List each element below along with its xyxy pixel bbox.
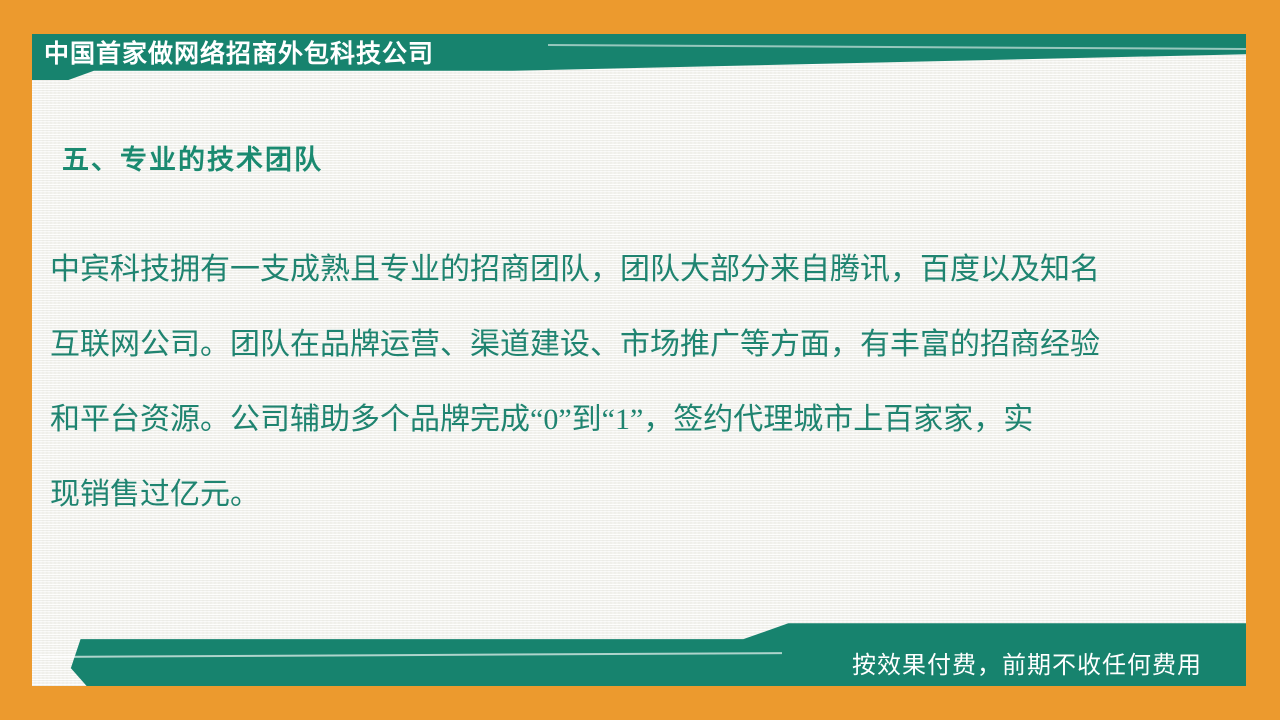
- body-line: 中宾科技拥有一支成熟且专业的招商团队，团队大部分来自腾讯，百度以及知名: [50, 232, 1180, 307]
- footer-slogan: 按效果付费，前期不收任何费用: [852, 645, 1202, 680]
- body-line: 互联网公司。团队在品牌运营、渠道建设、市场推广等方面，有丰富的招商经验: [50, 307, 1180, 382]
- body-line: 和平台资源。公司辅助多个品牌完成“0”到“1”，签约代理城市上百家家，实: [50, 382, 1180, 457]
- section-heading: 五、专业的技术团队: [62, 138, 323, 177]
- header-title: 中国首家做网络招商外包科技公司: [44, 36, 434, 72]
- body-paragraph: 中宾科技拥有一支成熟且专业的招商团队，团队大部分来自腾讯，百度以及知名 互联网公…: [50, 232, 1180, 532]
- body-line: 现销售过亿元。: [50, 457, 1180, 532]
- slide-canvas: 中国首家做网络招商外包科技公司 五、专业的技术团队 中宾科技拥有一支成熟且专业的…: [0, 0, 1280, 720]
